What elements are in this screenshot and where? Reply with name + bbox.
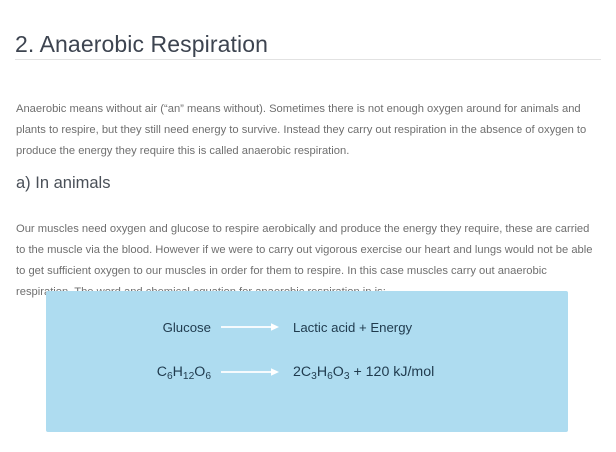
lesson-page: 2. Anaerobic Respiration Anaerobic means…	[0, 0, 616, 452]
formula-segment: H	[317, 364, 327, 380]
page-title: 2. Anaerobic Respiration	[15, 31, 268, 58]
chemical-equation-reactant: C6H12O6	[81, 364, 211, 380]
word-equation-reactant: Glucose	[81, 320, 211, 335]
equation-callout-box: Glucose Lactic acid + Energy C6H12O6 2C3…	[46, 291, 568, 432]
chemical-equation-row: C6H12O6 2C3H6O3 + 120 kJ/mol	[46, 361, 568, 383]
chemical-equation-product: 2C3H6O3 + 120 kJ/mol	[293, 364, 533, 380]
subheading-in-animals: a) In animals	[16, 174, 110, 193]
formula-segment: O	[194, 364, 205, 380]
subscript: 6	[205, 371, 211, 382]
formula-segment: H	[173, 364, 183, 380]
formula-segment: 2C	[293, 364, 311, 380]
right-arrow-icon	[221, 321, 283, 333]
intro-paragraph: Anaerobic means without air (“an” means …	[16, 99, 596, 162]
word-equation-product: Lactic acid + Energy	[293, 320, 533, 335]
formula-segment: + 120 kJ/mol	[350, 364, 435, 380]
formula-segment: C	[157, 364, 167, 380]
subscript: 12	[183, 371, 194, 382]
right-arrow-icon	[221, 366, 283, 378]
word-equation-row: Glucose Lactic acid + Energy	[46, 317, 568, 337]
title-divider	[15, 59, 601, 60]
formula-segment: O	[333, 364, 344, 380]
